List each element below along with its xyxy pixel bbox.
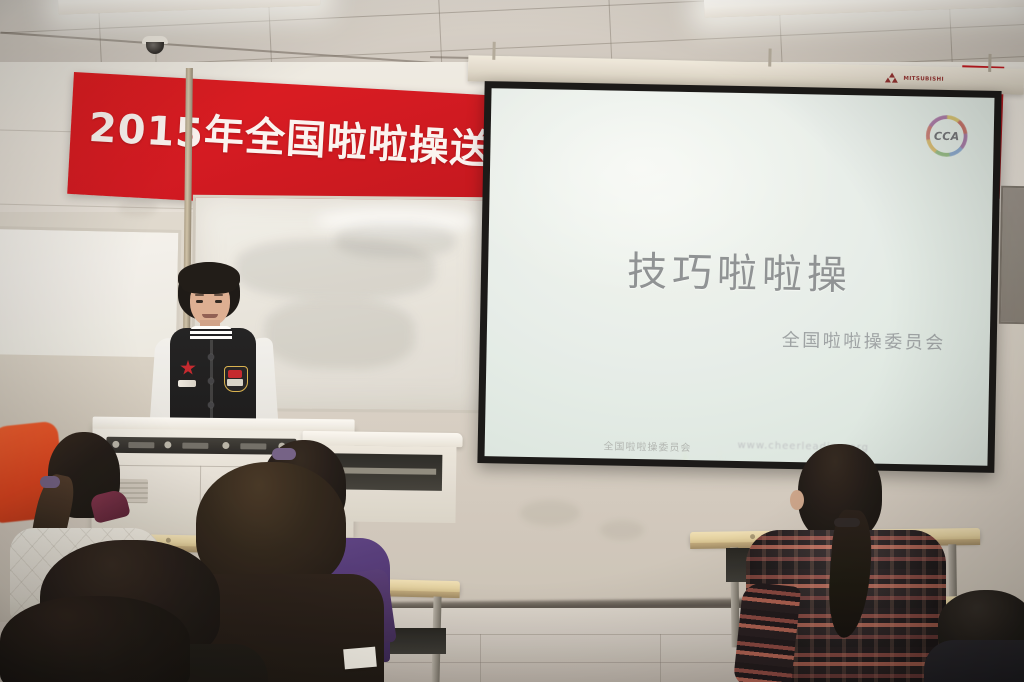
projector-brand-label: MITSUBISHI: [903, 75, 944, 82]
cca-logo-label: CCA: [925, 115, 968, 158]
slide-subtitle: 全国啦啦操委员会: [782, 326, 946, 355]
classroom-photo: 2015年全国啦啦操送 MITSUBISHI CCA: [0, 0, 1024, 682]
slide-title: 技巧啦啦操: [488, 236, 992, 304]
mitsubishi-diamonds-icon: MITSUBISHI: [885, 72, 944, 84]
notebook-paper-left: [343, 647, 377, 670]
presenter-collar: [190, 326, 232, 339]
presenter-mouth: [202, 314, 218, 318]
presenter-patch-bar: [178, 380, 196, 387]
slide-footer-org: 全国啦啦操委员会: [603, 437, 691, 454]
presentation-slide: CCA 技巧啦啦操 全国啦啦操委员会 全国啦啦操委员会 www.cheerlea…: [485, 88, 995, 466]
student-patterned-sweater: [746, 444, 946, 682]
presenter-badge: [224, 366, 248, 392]
student-right-edge: [938, 590, 1024, 682]
dome-camera-icon: [142, 36, 168, 56]
presenter-bangs: [178, 262, 240, 292]
projection-screen: CCA 技巧啦啦操 全国啦啦操委员会 全国啦啦操委员会 www.cheerlea…: [477, 81, 1001, 473]
cca-logo-icon: CCA: [925, 115, 968, 158]
student-bottom-left: [0, 596, 200, 682]
wall-mounted-panel: [999, 186, 1024, 325]
